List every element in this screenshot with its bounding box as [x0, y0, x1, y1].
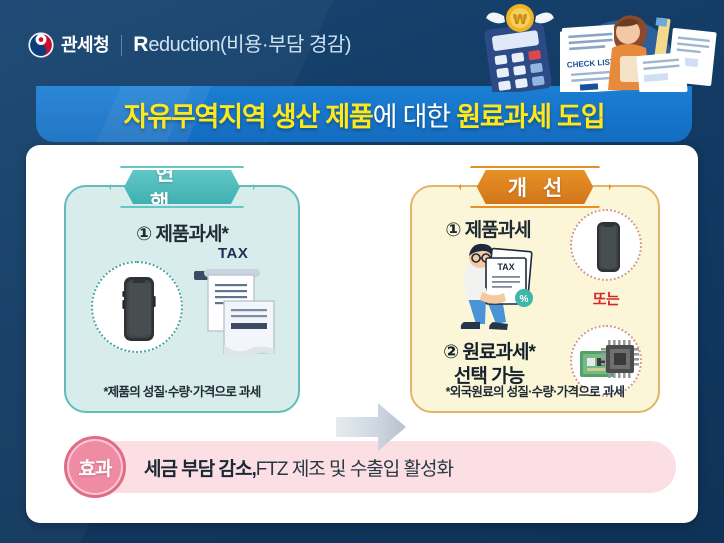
improved-tax-label: TAX — [497, 262, 514, 272]
effect-text-normal: FTZ 제조 및 수출입 활성화 — [256, 454, 453, 481]
svg-text:₩: ₩ — [513, 13, 528, 28]
current-phone-circle — [91, 261, 183, 353]
agency-name: 관세청 — [61, 32, 109, 58]
taegeuk-emblem-icon — [28, 32, 54, 58]
ribbon-label-current: 현 행 — [124, 170, 240, 204]
panel-improved-system: 개 선 ① 제품과세 — [410, 185, 660, 413]
effect-text-bold: 세금 부담 감소, — [144, 454, 256, 481]
small-document-icon — [636, 52, 687, 92]
keyword-rest: eduction(비용·부담 경감) — [148, 32, 351, 58]
brand-divider — [121, 35, 122, 56]
improved-or-label: 또는 — [570, 288, 642, 309]
improved-item-1: ① 제품과세 — [420, 215, 556, 242]
improved-item-2-line1: ② 원료과세* — [416, 337, 562, 364]
page-title: 자유무역지역 생산 제품에 대한 원료과세 도입 — [124, 95, 605, 134]
current-footnote: *제품의 성질·수량·가격으로 과세 — [66, 381, 298, 400]
content-card: 현 행 ① 제품과세* TAX — [26, 145, 698, 523]
smartphone-icon — [93, 263, 185, 355]
person-carrying-tax-documents-icon: TAX % — [438, 242, 546, 334]
title-banner: 자유무역지역 생산 제품에 대한 원료과세 도입 — [36, 86, 692, 142]
smartphone-icon — [572, 211, 644, 283]
improved-phone-circle — [570, 209, 642, 281]
keyword-initial: R — [133, 32, 148, 58]
right-arrow-icon — [334, 399, 408, 455]
title-highlight-2: 원료과세 도입 — [456, 102, 604, 132]
page-header: 관세청 R eduction(비용·부담 경감) — [0, 0, 724, 88]
header-decoration-illustration: ₩ CHECK LIST — [474, 0, 720, 92]
title-plain-1: 에 대한 — [373, 102, 457, 132]
improved-footnote: *외국원료의 성질·수량·가격으로 과세 — [412, 381, 658, 400]
brand-lockup: 관세청 R eduction(비용·부담 경감) — [28, 32, 351, 58]
tax-receipt-icon — [188, 249, 288, 357]
title-highlight-1: 자유무역지역 생산 제품 — [124, 102, 373, 132]
calculator-icon — [484, 22, 553, 92]
percent-badge-label: % — [520, 294, 529, 305]
ribbon-label-improved: 개 선 — [477, 170, 593, 204]
panel-current-system: 현 행 ① 제품과세* TAX — [64, 185, 300, 413]
current-item-1: ① 제품과세* — [66, 219, 298, 246]
effect-badge: 효과 — [64, 436, 126, 498]
